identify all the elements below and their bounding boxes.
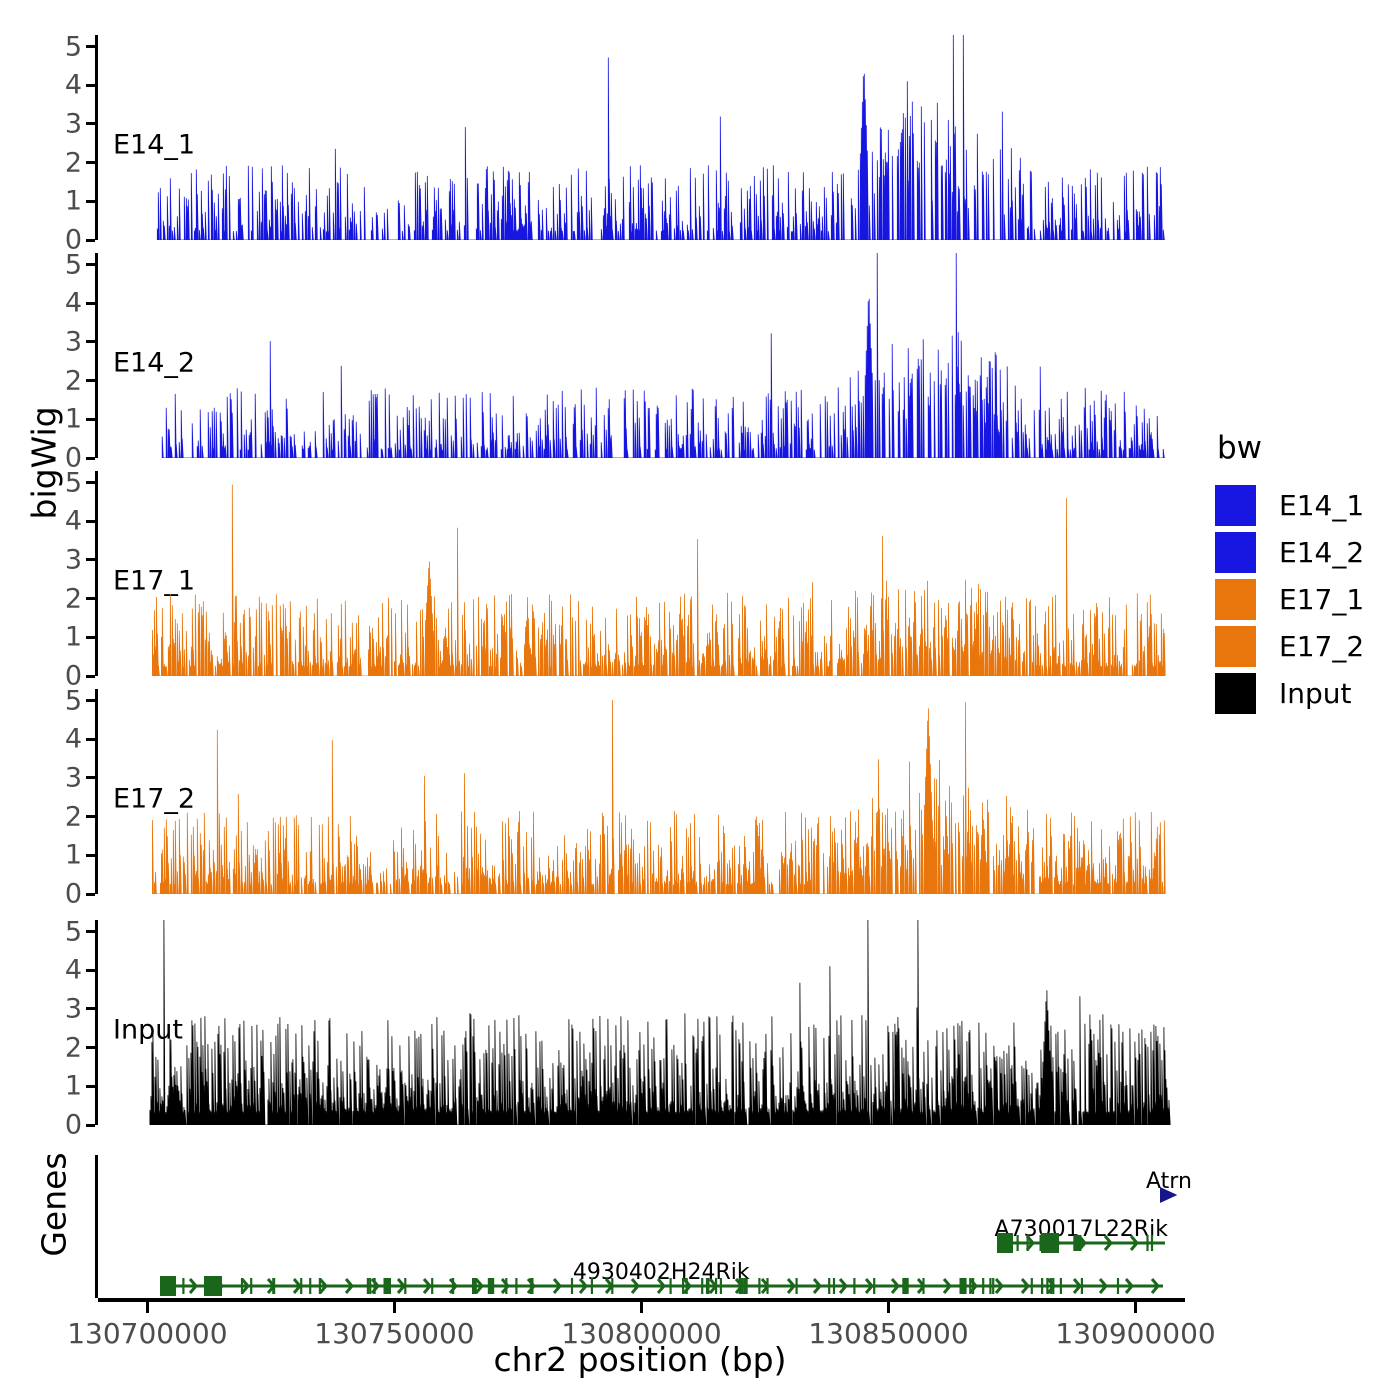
signal-track-e14_2 [98,253,1185,458]
legend-label: E14_2 [1279,536,1364,569]
y-tick-label: 1 [65,840,82,871]
y-tick-label: 3 [65,544,82,575]
y-tick-label: 1 [65,404,82,435]
legend-swatch [1215,532,1256,573]
genes-panel: AtrnA730017L22Rik4930402H24Rik 130700000… [95,1155,1395,1315]
y-tick [86,457,95,460]
y-tick [86,558,95,561]
y-tick [86,1124,95,1127]
y-tick [86,418,95,421]
signal-track-e17_2 [98,689,1185,894]
y-axis-title: bigWig [25,460,64,520]
y-tick-label: 4 [65,724,82,755]
genes-axis-title: Genes [35,1145,74,1265]
y-tick-label: 3 [65,993,82,1024]
legend-item-input[interactable]: Input [1215,670,1364,717]
track-panel-input: 012345Input [95,920,1185,1125]
y-tick [86,1046,95,1049]
legend-item-e14_1[interactable]: E14_1 [1215,482,1364,529]
y-tick [86,520,95,523]
y-tick-label: 0 [65,879,82,910]
track-panel-e14_1: 012345E14_1 [95,35,1185,240]
legend-item-e17_2[interactable]: E17_2 [1215,623,1364,670]
legend-label: E14_1 [1279,489,1364,522]
y-tick [86,161,95,164]
y-tick-label: 1 [65,186,82,217]
genes-axis-line [95,1155,98,1298]
y-tick [86,340,95,343]
y-tick [86,930,95,933]
y-tick [86,738,95,741]
y-tick-label: 2 [65,365,82,396]
y-tick [86,239,95,242]
y-tick [86,815,95,818]
y-tick [86,122,95,125]
y-tick [86,200,95,203]
x-tick [393,1302,396,1313]
legend: bw E14_1E14_2E17_1E17_2Input [1215,430,1364,717]
y-tick [86,1007,95,1010]
y-tick [86,776,95,779]
legend-swatch [1215,485,1256,526]
track-panel-e14_2: 012345E14_2 [95,253,1185,458]
gene-model[interactable] [160,1275,1163,1297]
y-tick [86,379,95,382]
y-tick-label: 4 [65,955,82,986]
y-tick [86,84,95,87]
gene-model[interactable] [1160,1184,1177,1206]
legend-label: Input [1279,677,1352,710]
legend-label: E17_1 [1279,583,1364,616]
y-tick-label: 3 [65,108,82,139]
y-tick [86,302,95,305]
y-tick-label: 5 [65,467,82,498]
y-tick [86,969,95,972]
y-tick [86,854,95,857]
x-tick [1134,1302,1137,1313]
y-tick-label: 2 [65,583,82,614]
x-tick [640,1302,643,1313]
y-tick [86,263,95,266]
y-tick-label: 4 [65,288,82,319]
y-tick [86,1085,95,1088]
y-tick-label: 3 [65,762,82,793]
y-tick [86,699,95,702]
y-tick-label: 2 [65,1032,82,1063]
legend-swatch [1215,626,1256,667]
y-tick-label: 5 [65,685,82,716]
legend-item-e17_1[interactable]: E17_1 [1215,576,1364,623]
y-tick [86,597,95,600]
y-tick-label: 5 [65,916,82,947]
legend-swatch [1215,673,1256,714]
y-tick-label: 2 [65,801,82,832]
y-tick-label: 5 [65,31,82,62]
y-tick-label: 4 [65,506,82,537]
x-tick [887,1302,890,1313]
y-tick-label: 4 [65,70,82,101]
x-axis-title: chr2 position (bp) [95,1340,1185,1379]
signal-track-e14_1 [98,35,1185,240]
y-tick-label: 1 [65,1071,82,1102]
signal-track-input [98,920,1185,1125]
y-tick [86,893,95,896]
track-panel-e17_1: 012345E17_1 [95,471,1185,676]
y-tick-label: 5 [65,249,82,280]
gene-model[interactable] [997,1232,1165,1254]
signal-track-e17_1 [98,471,1185,676]
y-tick [86,481,95,484]
legend-swatch [1215,579,1256,620]
y-tick-label: 0 [65,1110,82,1141]
x-tick [146,1302,149,1313]
legend-title: bw [1217,430,1364,466]
y-tick [86,636,95,639]
legend-label: E17_2 [1279,630,1364,663]
y-tick-label: 2 [65,147,82,178]
y-tick-label: 3 [65,326,82,357]
y-tick-label: 1 [65,622,82,653]
track-panel-e17_2: 012345E17_2 [95,689,1185,894]
legend-item-e14_2[interactable]: E14_2 [1215,529,1364,576]
y-tick [86,675,95,678]
y-tick [86,45,95,48]
genome-browser-figure: bigWig Genes 012345E14_1012345E14_201234… [0,0,1400,1400]
